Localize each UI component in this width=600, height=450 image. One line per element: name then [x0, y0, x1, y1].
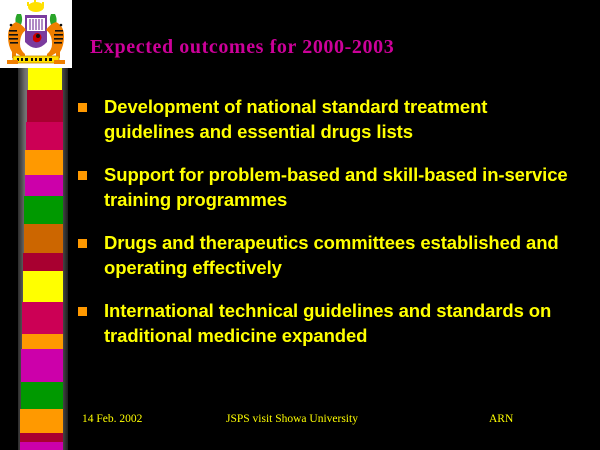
list-item-text: Development of national standard treatme… [104, 94, 578, 144]
square-bullet-icon [78, 307, 87, 316]
color-band-block [23, 253, 63, 271]
square-bullet-icon [78, 239, 87, 248]
list-item-text: International technical guidelines and s… [104, 298, 578, 348]
color-band-block [25, 150, 63, 175]
slide-footer: 14 Feb. 2002 JSPS visit Showa University… [0, 413, 600, 433]
footer-event-title: JSPS visit Showa University [226, 413, 358, 425]
color-band-block [26, 122, 63, 150]
list-item-text: Support for problem-based and skill-base… [104, 162, 578, 212]
color-band-block [20, 442, 63, 450]
color-band-block [24, 224, 63, 253]
color-band-block [20, 433, 63, 442]
color-band-block [23, 271, 63, 302]
bullet-list: Development of national standard treatme… [78, 94, 578, 366]
list-item: Support for problem-based and skill-base… [78, 162, 578, 212]
color-band-block [21, 349, 63, 382]
slide-canvas: Expected outcomes for 2000-2003 Developm… [0, 0, 600, 450]
list-item: International technical guidelines and s… [78, 298, 578, 348]
list-item-text: Drugs and therapeutics committees establ… [104, 230, 578, 280]
square-bullet-icon [78, 103, 87, 112]
footer-date: 14 Feb. 2002 [82, 413, 142, 425]
color-band-block [22, 302, 63, 334]
color-band-block [22, 334, 63, 349]
color-band-block [24, 196, 63, 224]
slide-title: Expected outcomes for 2000-2003 [90, 36, 394, 59]
list-item: Development of national standard treatme… [78, 94, 578, 144]
color-band-block [21, 382, 63, 409]
coat-of-arms-icon [0, 0, 72, 68]
color-band-block [28, 68, 62, 90]
list-item: Drugs and therapeutics committees establ… [78, 230, 578, 280]
square-bullet-icon [78, 171, 87, 180]
color-band-block [27, 90, 63, 122]
footer-author: ARN [489, 413, 513, 425]
color-band-block [25, 175, 63, 196]
